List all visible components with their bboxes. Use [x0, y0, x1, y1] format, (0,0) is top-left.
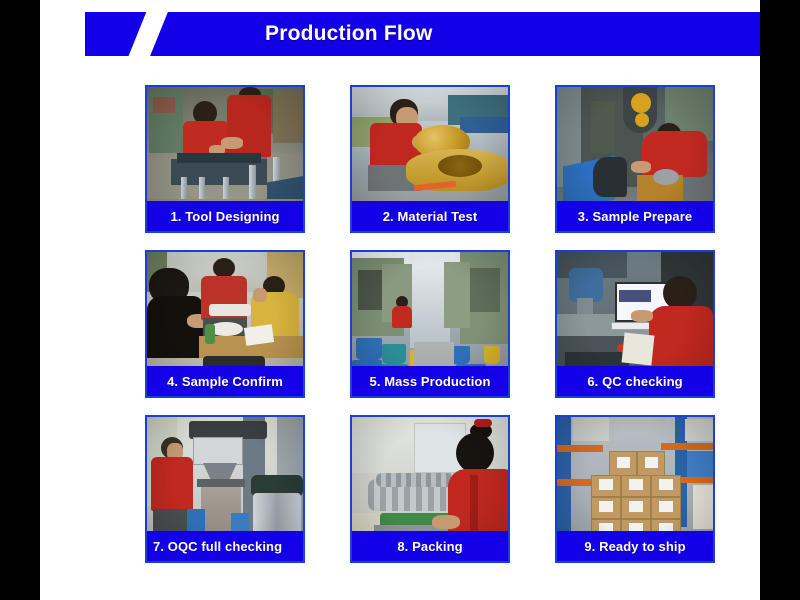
- step-label-9: 9. Ready to ship: [557, 531, 713, 561]
- step-label-6: 6. QC checking: [557, 366, 713, 396]
- step-card-1[interactable]: 1. Tool Designing: [145, 85, 305, 233]
- step-label-2: 2. Material Test: [352, 201, 508, 231]
- step-label-1: 1. Tool Designing: [147, 201, 303, 231]
- slide-canvas: Production Flow: [40, 0, 760, 600]
- letterbox-right: [760, 0, 800, 600]
- step-card-2[interactable]: 2. Material Test: [350, 85, 510, 233]
- step-card-4[interactable]: 4. Sample Confirm: [145, 250, 305, 398]
- step-card-7[interactable]: 7. OQC full checking: [145, 415, 305, 563]
- step-card-5[interactable]: 5. Mass Production: [350, 250, 510, 398]
- page-title: Production Flow: [85, 12, 795, 56]
- step-label-7: 7. OQC full checking: [147, 531, 305, 561]
- step-label-3: 3. Sample Prepare: [557, 201, 713, 231]
- step-label-8: 8. Packing: [352, 531, 508, 561]
- step-label-5: 5. Mass Production: [352, 366, 508, 396]
- step-label-4: 4. Sample Confirm: [147, 366, 303, 396]
- step-card-3[interactable]: 3. Sample Prepare: [555, 85, 715, 233]
- step-card-8[interactable]: 8. Packing: [350, 415, 510, 563]
- step-card-9[interactable]: 9. Ready to ship: [555, 415, 715, 563]
- slide-root: Production Flow: [0, 0, 800, 600]
- step-card-6[interactable]: 6. QC checking: [555, 250, 715, 398]
- production-flow-grid: 1. Tool Designing: [145, 85, 730, 563]
- header-bar: Production Flow: [85, 12, 795, 56]
- letterbox-left: [0, 0, 40, 600]
